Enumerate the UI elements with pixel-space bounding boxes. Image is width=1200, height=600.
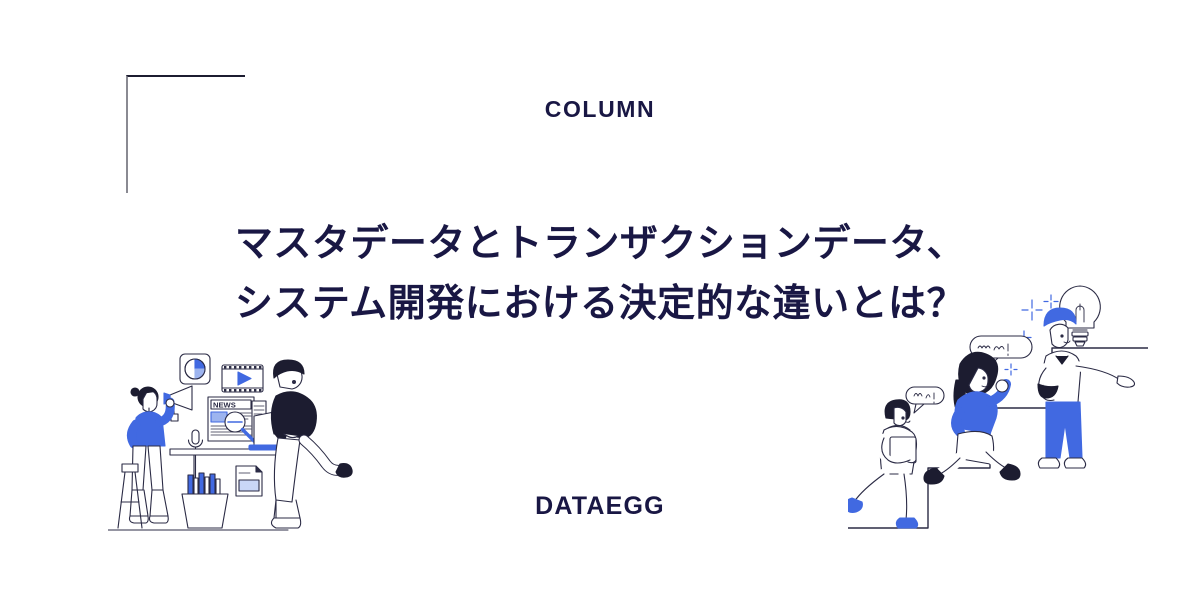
person-with-laptop (271, 360, 352, 528)
corner-bracket-decoration (126, 75, 245, 193)
speech-bubble-small (906, 387, 944, 413)
category-label: COLUMN (0, 98, 1200, 121)
svg-text:NEWS: NEWS (213, 401, 236, 410)
media-team-desk-illustration: NEWS (108, 342, 370, 547)
pie-chart-icon (180, 354, 210, 384)
document-icon (236, 466, 262, 496)
person-with-megaphone (118, 387, 174, 528)
page-title-line-1: マスタデータとトランザクションデータ、 (0, 214, 1200, 274)
column-hero-banner: COLUMN マスタデータとトランザクションデータ、 システム開発における決定的… (0, 0, 1200, 600)
video-play-icon (222, 365, 263, 392)
books-box (182, 473, 228, 528)
people-climbing-stairs-illustration (848, 272, 1148, 550)
person-walking-with-tablet (848, 400, 918, 528)
person-running-upstairs (924, 352, 1020, 484)
